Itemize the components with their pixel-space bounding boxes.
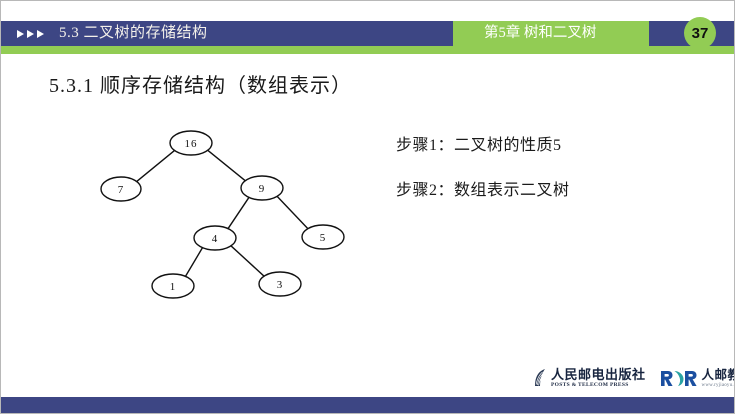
- header-section-title: 5.3 二叉树的存储结构: [59, 21, 208, 46]
- footer-bar: [1, 397, 735, 413]
- tree-edge-group: [136, 150, 308, 277]
- tree-node: 9: [241, 176, 283, 200]
- publisher-logo: 人民邮电出版社 POSTS & TELECOM PRESS: [533, 368, 646, 389]
- education-url: www.ryjiaoyu.com: [702, 383, 735, 388]
- ryjiaoyu-logo-icon: [660, 368, 698, 388]
- tree-edge: [230, 245, 264, 276]
- tree-node: 7: [101, 177, 141, 201]
- header-chapter-title: 第5章 树和二叉树: [484, 21, 596, 46]
- education-name-cn: 人邮教育: [702, 369, 735, 382]
- education-logo: 人邮教育 www.ryjiaoyu.com: [660, 368, 735, 388]
- slide-header: 5.3 二叉树的存储结构 第5章 树和二叉树 37: [1, 21, 735, 54]
- tree-node-label: 16: [185, 138, 198, 150]
- tree-edge: [277, 196, 309, 229]
- tree-node-label: 5: [320, 232, 327, 244]
- binary-tree-diagram: 16794513: [91, 119, 381, 314]
- right-arrow-icon: [27, 30, 34, 38]
- binary-tree-svg: 16794513: [91, 119, 381, 314]
- slide-canvas: 5.3 二叉树的存储结构 第5章 树和二叉树 37 5.3.1 顺序存储结构（数…: [0, 0, 735, 414]
- tree-node-label: 7: [118, 184, 125, 196]
- tree-node-group: 16794513: [101, 131, 344, 298]
- right-arrow-icon: [37, 30, 44, 38]
- tree-edge: [136, 150, 175, 182]
- tree-node-label: 1: [170, 281, 177, 293]
- tree-edge: [185, 248, 202, 277]
- tree-node-label: 4: [212, 233, 219, 245]
- step-item-1: 步骤1：二叉树的性质5: [396, 131, 562, 155]
- tree-node-label: 3: [277, 279, 284, 291]
- tree-node: 16: [170, 131, 212, 155]
- step-item-2: 步骤2：数组表示二叉树: [396, 176, 570, 200]
- publisher-name-en: POSTS & TELECOM PRESS: [551, 383, 646, 389]
- page-title: 5.3.1 顺序存储结构（数组表示）: [49, 69, 352, 98]
- ptpress-logo-icon: [533, 368, 547, 388]
- tree-node-label: 9: [259, 183, 266, 195]
- tree-node: 1: [152, 274, 194, 298]
- education-logo-text: 人邮教育 www.ryjiaoyu.com: [702, 369, 735, 389]
- triple-right-arrow-icon: [17, 21, 44, 46]
- page-number-badge: 37: [684, 17, 716, 49]
- publisher-logo-text: 人民邮电出版社 POSTS & TELECOM PRESS: [551, 368, 646, 389]
- tree-node: 4: [194, 226, 236, 250]
- footer-logo-group: 人民邮电出版社 POSTS & TELECOM PRESS 人邮教育 www.r…: [533, 368, 735, 389]
- tree-edge: [228, 197, 249, 229]
- tree-node: 3: [259, 272, 301, 296]
- tree-edge: [207, 150, 246, 182]
- tree-node: 5: [302, 225, 344, 249]
- right-arrow-icon: [17, 30, 24, 38]
- publisher-name-cn: 人民邮电出版社: [551, 368, 646, 381]
